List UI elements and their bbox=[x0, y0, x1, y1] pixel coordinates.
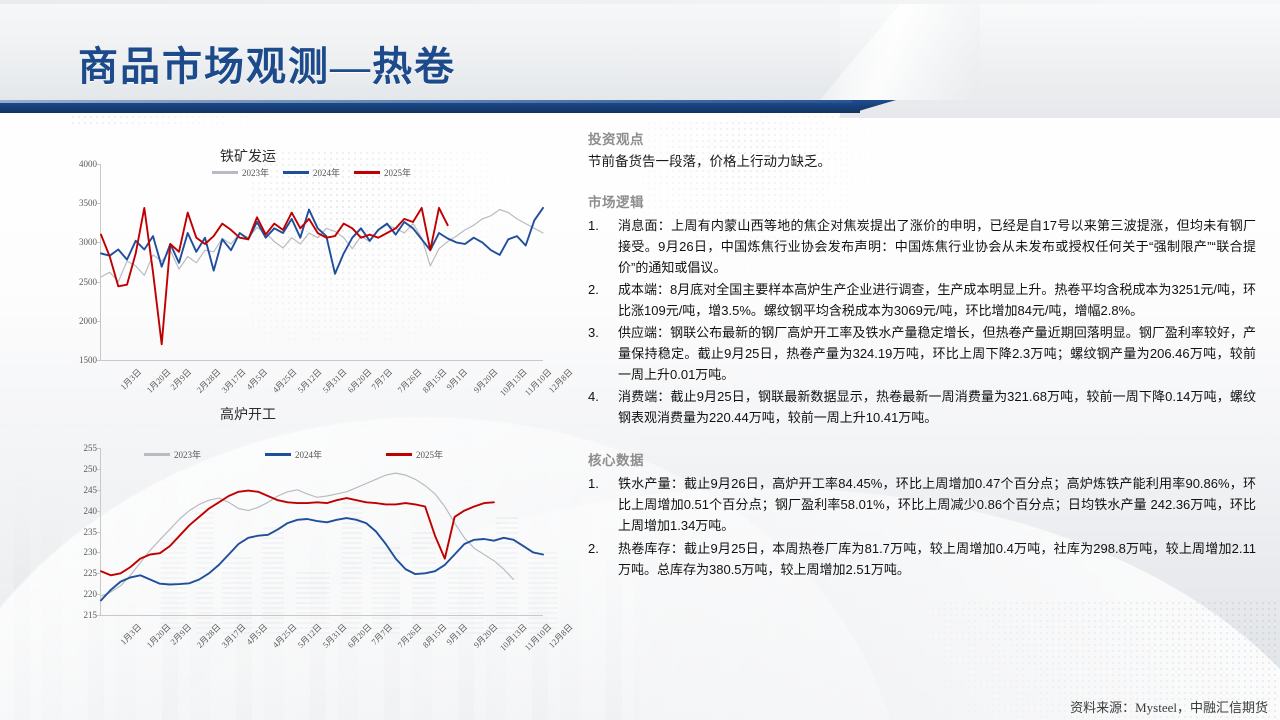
chart-xaxis-1: 1月3日1月20日2月9日2月28日3月17日4月5日4月25日5月12日5月3… bbox=[100, 364, 542, 404]
x-axis-tick: 4月25日 bbox=[269, 366, 299, 396]
list-item: 2.热卷库存：截止9月25日，本周热卷厂库为81.7万吨，较上周增加0.4万吨，… bbox=[588, 538, 1256, 580]
x-axis-tick: 3月17日 bbox=[219, 366, 249, 396]
series-line-2024年 bbox=[101, 208, 543, 274]
x-axis-tick: 10月13日 bbox=[497, 621, 530, 654]
page-title: 商品市场观测—热卷 bbox=[78, 34, 456, 92]
x-axis-tick: 2月9日 bbox=[168, 621, 195, 648]
list-item: 1.铁水产量：截止9月26日，高炉开工率84.45%，环比上周增加0.47个百分… bbox=[588, 473, 1256, 536]
x-axis-tick: 2月28日 bbox=[194, 366, 224, 396]
chart-plot-area-2: 255250245240235230225220215 bbox=[100, 448, 543, 616]
investment-view-text: 节前备货告一段落，价格上行动力缺乏。 bbox=[588, 152, 1256, 173]
y-axis-tickmark bbox=[97, 532, 101, 533]
series-line-2025年 bbox=[101, 491, 494, 576]
y-axis-tickmark bbox=[97, 552, 101, 553]
y-axis-tick: 1500 bbox=[79, 355, 97, 365]
chart-title-2: 高炉开工 bbox=[220, 404, 276, 424]
y-axis-tick: 230 bbox=[84, 547, 98, 557]
header-accent-highlight bbox=[0, 100, 860, 103]
x-axis-tick: 1月3日 bbox=[117, 621, 144, 648]
x-axis-tick: 7月26日 bbox=[395, 366, 425, 396]
y-axis-tickmark bbox=[97, 321, 101, 322]
chart-lines-2 bbox=[101, 448, 543, 615]
y-axis-tickmark bbox=[97, 448, 101, 449]
list-item-number: 2. bbox=[588, 279, 618, 321]
series-line-2023年 bbox=[101, 473, 514, 596]
x-axis-tick: 2月9日 bbox=[168, 366, 195, 393]
x-axis-tick: 5月12日 bbox=[294, 366, 324, 396]
list-item: 4.消费端：截止9月25日，钢联最新数据显示，热卷最新一周消费量为321.68万… bbox=[588, 386, 1256, 428]
list-item-text: 热卷库存：截止9月25日，本周热卷厂库为81.7万吨，较上周增加0.4万吨，社库… bbox=[618, 538, 1256, 580]
y-axis-tick: 3000 bbox=[79, 237, 97, 247]
source-note: 资料来源：Mysteel，中融汇信期货 bbox=[1070, 697, 1268, 716]
list-item-text: 成本端：8月底对全国主要样本高炉生产企业进行调查，生产成本明显上升。热卷平均含税… bbox=[618, 279, 1256, 321]
x-axis-tick: 1月3日 bbox=[117, 366, 144, 393]
y-axis-tickmark bbox=[97, 615, 101, 616]
list-item-text: 铁水产量：截止9月26日，高炉开工率84.45%，环比上周增加0.47个百分点；… bbox=[618, 473, 1256, 536]
y-axis-tickmark bbox=[97, 490, 101, 491]
section-spacer bbox=[588, 429, 1256, 449]
y-axis-tick: 250 bbox=[84, 464, 98, 474]
y-axis-tick: 2500 bbox=[79, 277, 97, 287]
chart-lines-1 bbox=[101, 164, 543, 360]
list-item-number: 3. bbox=[588, 322, 618, 385]
y-axis-tick: 255 bbox=[84, 443, 98, 453]
x-axis-tick: 3月17日 bbox=[219, 621, 249, 651]
y-axis-tickmark bbox=[97, 203, 101, 204]
x-axis-tick: 2月28日 bbox=[194, 621, 224, 651]
y-axis-tickmark bbox=[97, 573, 101, 574]
series-line-2024年 bbox=[101, 518, 543, 600]
y-axis-tick: 3500 bbox=[79, 198, 97, 208]
y-axis-tick: 235 bbox=[84, 527, 98, 537]
x-axis-tick: 7月7日 bbox=[369, 621, 396, 648]
y-axis-tickmark bbox=[97, 594, 101, 595]
x-axis-tick: 5月31日 bbox=[320, 366, 350, 396]
y-axis-tickmark bbox=[97, 360, 101, 361]
y-axis-tick: 4000 bbox=[79, 159, 97, 169]
x-axis-tick: 7月7日 bbox=[369, 366, 396, 393]
section-heading-investment-view: 投资观点 bbox=[588, 128, 1256, 148]
list-item: 1.消息面：上周有内蒙山西等地的焦企对焦炭提出了涨价的申明，已经是自17号以来第… bbox=[588, 215, 1256, 278]
x-axis-tick: 9月20日 bbox=[470, 366, 500, 396]
x-axis-tick: 9月1日 bbox=[444, 366, 471, 393]
list-item-number: 2. bbox=[588, 538, 618, 580]
x-axis-tick: 9月1日 bbox=[444, 621, 471, 648]
list-item: 3.供应端：钢联公布最新的钢厂高炉开工率及铁水产量稳定增长，但热卷产量近期回落明… bbox=[588, 322, 1256, 385]
slide-header: 商品市场观测—热卷 bbox=[0, 0, 1280, 118]
chart-plot-area-1: 400035003000250020001500 bbox=[100, 164, 543, 361]
list-item-text: 消息面：上周有内蒙山西等地的焦企对焦炭提出了涨价的申明，已经是自17号以来第三波… bbox=[618, 215, 1256, 278]
y-axis-tickmark bbox=[97, 282, 101, 283]
y-axis-tick: 225 bbox=[84, 568, 98, 578]
list-item-number: 1. bbox=[588, 215, 618, 278]
section-heading-core-data: 核心数据 bbox=[588, 449, 1256, 469]
list-item: 2.成本端：8月底对全国主要样本高炉生产企业进行调查，生产成本明显上升。热卷平均… bbox=[588, 279, 1256, 321]
y-axis-tick: 245 bbox=[84, 485, 98, 495]
core-data-list: 1.铁水产量：截止9月26日，高炉开工率84.45%，环比上周增加0.47个百分… bbox=[588, 473, 1256, 579]
market-logic-list: 1.消息面：上周有内蒙山西等地的焦企对焦炭提出了涨价的申明，已经是自17号以来第… bbox=[588, 215, 1256, 428]
x-axis-tick: 5月12日 bbox=[294, 621, 324, 651]
chart-title-1: 铁矿发运 bbox=[220, 146, 276, 166]
y-axis-tickmark bbox=[97, 164, 101, 165]
y-axis-tick: 220 bbox=[84, 589, 98, 599]
list-item-text: 消费端：截止9月25日，钢联最新数据显示，热卷最新一周消费量为321.68万吨，… bbox=[618, 386, 1256, 428]
y-axis-tick: 215 bbox=[84, 610, 98, 620]
x-axis-tick: 9月20日 bbox=[470, 621, 500, 651]
x-axis-tick: 4月25日 bbox=[269, 621, 299, 651]
x-axis-tick: 4月5日 bbox=[243, 366, 270, 393]
y-axis-tickmark bbox=[97, 242, 101, 243]
x-axis-tick: 4月5日 bbox=[243, 621, 270, 648]
x-axis-tick: 5月31日 bbox=[320, 621, 350, 651]
y-axis-tickmark bbox=[97, 469, 101, 470]
y-axis-tickmark bbox=[97, 511, 101, 512]
chart-blast-furnace-operation: 高炉开工 2023年2024年2025年 2552502452402352302… bbox=[34, 400, 554, 670]
y-axis-tick: 2000 bbox=[79, 316, 97, 326]
list-item-text: 供应端：钢联公布最新的钢厂高炉开工率及铁水产量稳定增长，但热卷产量近期回落明显。… bbox=[618, 322, 1256, 385]
slide-root: 商品市场观测—热卷 铁矿发运 2023年2024年2025年 400035003… bbox=[0, 0, 1280, 720]
x-axis-tick: 7月26日 bbox=[395, 621, 425, 651]
list-item-number: 4. bbox=[588, 386, 618, 428]
x-axis-tick: 10月13日 bbox=[497, 366, 530, 399]
header-top-line bbox=[0, 0, 1280, 4]
y-axis-tick: 240 bbox=[84, 506, 98, 516]
chart-iron-ore-shipment: 铁矿发运 2023年2024年2025年 4000350030002500200… bbox=[34, 140, 554, 405]
list-item-number: 1. bbox=[588, 473, 618, 536]
section-heading-market-logic: 市场逻辑 bbox=[588, 191, 1256, 211]
content-panel: 投资观点 节前备货告一段落，价格上行动力缺乏。 市场逻辑 1.消息面：上周有内蒙… bbox=[588, 128, 1256, 581]
chart-xaxis-2: 1月3日1月20日2月9日2月28日3月17日4月5日4月25日5月12日5月3… bbox=[100, 619, 542, 663]
